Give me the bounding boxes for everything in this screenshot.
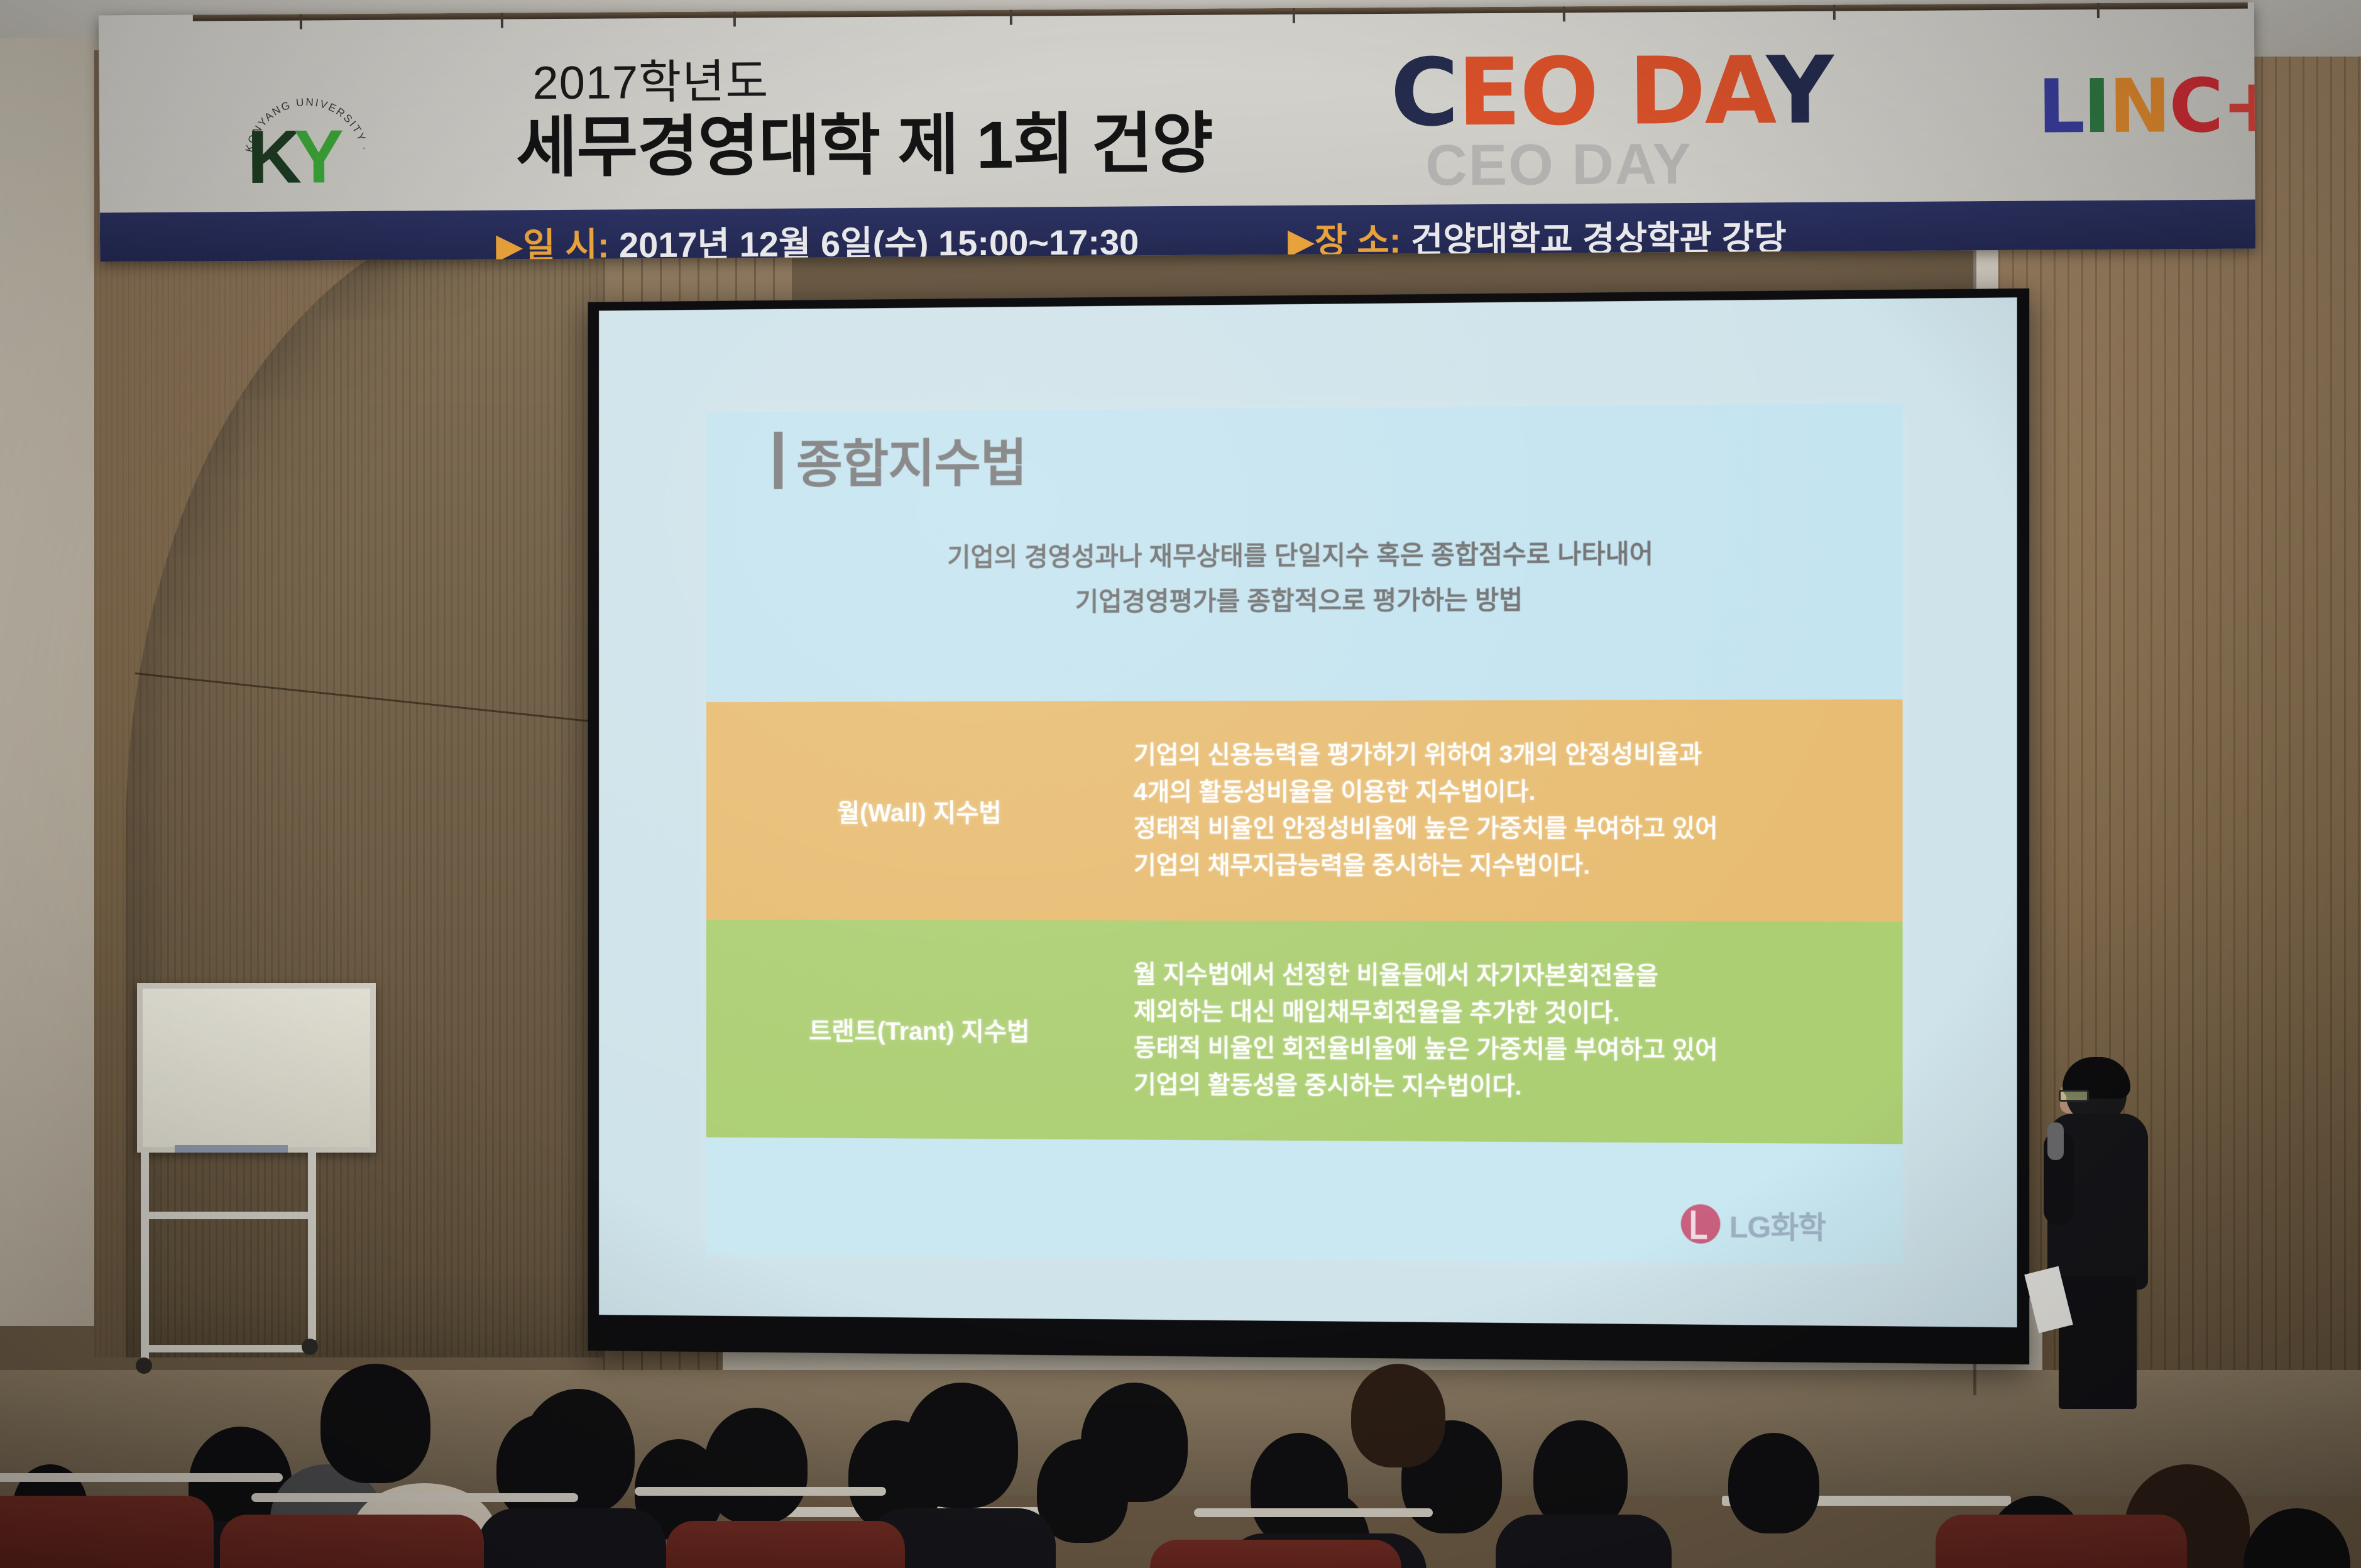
lg-chem-label: LG화학 [1729,1202,1826,1247]
row-label-trant: 트랜트(Trant) 지수법 [706,919,1134,1139]
slide-footer-section: LG화학 [706,1138,1903,1264]
date-value: 2017년 12월 6일(수) 15:00~17:30 [619,222,1139,261]
slide-row-trant: 트랜트(Trant) 지수법 월 지수법에서 선정한 비율들에서 자기자본회전율… [706,919,1903,1144]
trant-line-2: 제외하는 대신 매입채무회전율을 추가한 것이다. [1134,994,1877,1033]
linc-letter-l: L [2037,63,2083,150]
slide-title-group: 종합지수법 [774,421,1027,497]
auditorium-seat [666,1521,905,1568]
trant-line-4: 기업의 활동성을 중시하는 지수법이다. [1134,1066,1877,1107]
audience-head [1533,1420,1628,1530]
trant-line-3: 동태적 비율인 회전율비율에 높은 가중치를 부여하고 있어 [1134,1030,1877,1070]
audience-head [704,1408,808,1524]
slide-row-wall: 월(Wall) 지수법 기업의 신용능력을 평가하기 위하여 3개의 안정성비율… [706,699,1903,922]
whiteboard-surface [137,983,376,1153]
seat-rail [251,1493,578,1502]
ceo-day-eoda: EO DA [1457,36,1767,146]
audience-shoulders [478,1508,666,1568]
triangle-icon: ▶ [496,226,523,261]
linc-letter-plus: + [2221,62,2255,149]
ceo-day-c: C [1390,38,1458,147]
date-label: 일 시 [523,226,598,262]
slide-description: 기업의 경영성과나 재무상태를 단일지수 혹은 종합점수로 나타내어 기업경영평… [706,530,1903,626]
audience-head [1081,1383,1188,1502]
audience-head [905,1383,1018,1508]
microphone-icon [2047,1122,2064,1160]
banner-title-line: 세무경영대학 제 1회 건양 [516,89,1213,190]
trant-line-1: 월 지수법에서 선정한 비율들에서 자기자본회전율을 [1134,957,1877,995]
wall-line-2: 4개의 활동성비율을 이용한 지수법이다. [1134,774,1877,811]
linc-letter-c: C [2169,62,2221,150]
date-separator: : [598,226,610,262]
konyang-university-logo: KONYANG UNIVERSITY · 1991 K Y [240,80,373,197]
lg-chem-logo: LG화학 [1681,1202,1826,1247]
lg-circle-icon [1681,1204,1721,1244]
ceo-day-title: CEO DAY [1390,36,1833,147]
wall-line-4: 기업의 채무지급능력을 중시하는 지수법이다. [1134,847,1877,885]
audience-head [1351,1364,1445,1467]
row-body-wall: 기업의 신용능력을 평가하기 위하여 3개의 안정성비율과 4개의 활동성비율을… [1134,699,1903,922]
seat-rail [635,1487,886,1496]
presentation-slide: 종합지수법 기업의 경영성과나 재무상태를 단일지수 혹은 종합점수로 나타내어… [706,403,1903,1264]
row-label-wall: 월(Wall) 지수법 [706,701,1134,921]
auditorium-seat [0,1496,214,1568]
seat-rail [1194,1508,1433,1517]
slide-title: 종합지수법 [796,421,1027,497]
seat-rail [0,1473,283,1482]
auditorium-seat [1936,1515,2187,1568]
wall-line-3: 정태적 비율인 안정성비율에 높은 가중치를 부여하고 있어 [1134,811,1877,848]
logo-letter-y: Y [293,119,344,194]
description-line-1: 기업의 경영성과나 재무상태를 단일지수 혹은 종합점수로 나타내어 [706,530,1903,581]
projection-surface: 종합지수법 기업의 경영성과나 재무상태를 단일지수 혹은 종합점수로 나타내어… [599,297,2017,1327]
glasses-icon [2059,1090,2089,1102]
whiteboard [137,983,376,1153]
audience-shoulders [1496,1515,1672,1568]
ceo-day-y: Y [1766,36,1832,145]
wall-line-1: 기업의 신용능력을 평가하기 위하여 3개의 안정성비율과 [1134,737,1877,774]
slide-header-section: 종합지수법 기업의 경영성과나 재무상태를 단일지수 혹은 종합점수로 나타내어… [706,403,1903,702]
audience-head [1728,1433,1819,1533]
linc-letter-i: I [2083,63,2110,150]
banner-date-info: ▶일 시: 2017년 12월 6일(수) 15:00~17:30 [496,214,1139,261]
auditorium-seat [220,1515,484,1568]
title-accent-bar [774,431,783,488]
audience-head [320,1364,430,1483]
auditorium-seat [1150,1540,1401,1568]
row-body-trant: 월 지수법에서 선정한 비율들에서 자기자본회전율을 제외하는 대신 매입채무회… [1134,921,1903,1144]
audience [0,1307,2361,1568]
auditorium-photo: KONYANG UNIVERSITY · 1991 K Y 2017학년도 세무… [0,0,2361,1568]
linc-plus-logo: LINC+ [2037,62,2255,150]
projection-screen: 종합지수법 기업의 경영성과나 재무상태를 단일지수 혹은 종합점수로 나타내어… [588,288,2030,1364]
linc-letter-n: N [2108,62,2169,150]
description-line-2: 기업경영평가를 종합적으로 평가하는 방법 [706,576,1903,625]
event-banner: KONYANG UNIVERSITY · 1991 K Y 2017학년도 세무… [99,3,2255,262]
audience-head [2243,1508,2350,1568]
